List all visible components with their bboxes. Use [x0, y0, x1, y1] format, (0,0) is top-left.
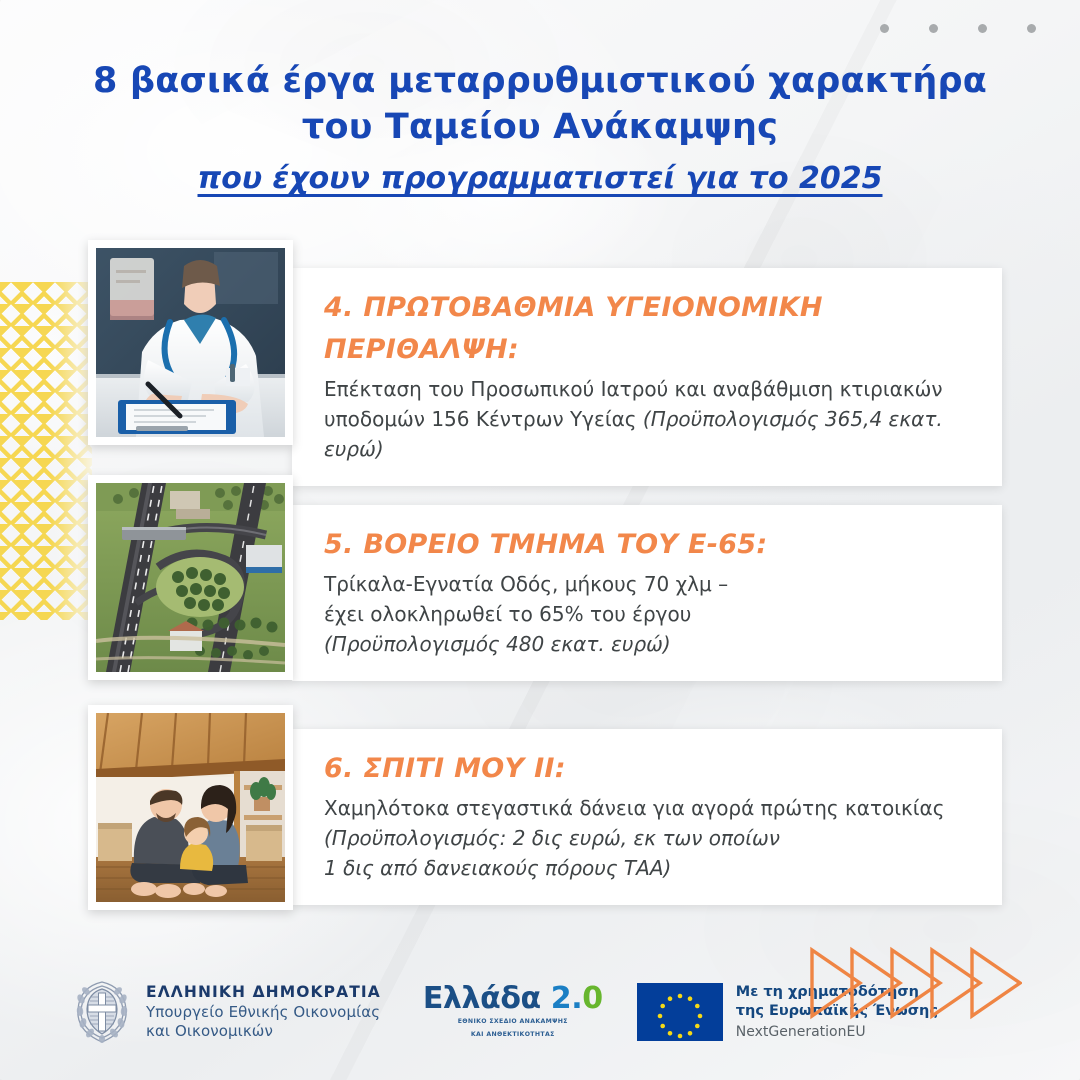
item-body-4-line2: υποδομών 156 Κέντρων Υγείας (Προϋπολογισ… — [324, 404, 972, 464]
greece-2-0-sub-line-1: ΕΘΝΙΚΟ ΣΧΕΔΙΟ ΑΝΑΚΑΜΨΗΣ — [423, 1018, 603, 1027]
item-body-6-line1: Χαμηλότοκα στεγαστικά δάνεια για αγορά π… — [324, 793, 972, 823]
aerial-highway-interchange-icon — [96, 483, 285, 672]
gov-line-3: και Οικονομικών — [146, 1022, 381, 1041]
item-body-4-line1: Επέκταση του Προσωπικού Ιατρού και αναβά… — [324, 374, 972, 404]
item-photo-6 — [88, 705, 293, 910]
family-in-new-home-icon — [96, 713, 285, 902]
decoration-dot — [1027, 24, 1036, 33]
gov-line-2: Υπουργείο Εθνικής Οικονομίας — [146, 1003, 381, 1022]
item-body-6-line3: 1 δις από δανειακούς πόρους ΤΑΑ) — [324, 853, 972, 883]
eu-line-3: NextGenerationEU — [736, 1023, 938, 1041]
item-row-6: 6. ΣΠΙΤΙ ΜΟΥ ΙΙ: Χαμηλότοκα στεγαστικά δ… — [88, 705, 1002, 910]
greece-2-0-word: Ελλάδα — [423, 981, 541, 1016]
item-body-5-line1: Τρίκαλα-Εγνατία Οδός, μήκους 70 χλμ – — [324, 569, 972, 599]
title-line-1: 8 βασικά έργα μεταρρυθμιστικού χαρακτήρα — [0, 58, 1080, 104]
decoration-dot — [929, 24, 938, 33]
greek-coat-of-arms-icon — [72, 979, 132, 1045]
decoration-dot — [978, 24, 987, 33]
title-line-2: του Ταμείου Ανάκαμψης — [0, 104, 1080, 150]
decoration-dot — [880, 24, 889, 33]
doctor-writing-on-clipboard-icon — [96, 248, 285, 437]
infographic-canvas: 8 βασικά έργα μεταρρυθμιστικού χαρακτήρα… — [0, 0, 1080, 1080]
greece-2-0-dot: . — [571, 981, 582, 1016]
item-row-5: 5. ΒΟΡΕΙΟ ΤΜΗΜΑ ΤΟΥ Ε-65: Τρίκαλα-Εγνατί… — [88, 475, 1002, 681]
item-photo-4 — [88, 240, 293, 445]
greece-2-0-sub-line-2: ΚΑΙ ΑΝΘΕΚΤΙΚΟΤΗΤΑΣ — [423, 1031, 603, 1040]
government-logo-block: ΕΛΛΗΝΙΚΗ ΔΗΜΟΚΡΑΤΙΑ Υπουργείο Εθνικής Οι… — [72, 979, 381, 1045]
top-decoration-dots — [880, 24, 1036, 33]
footer: ΕΛΛΗΝΙΚΗ ΔΗΜΟΚΡΑΤΙΑ Υπουργείο Εθνικής Οι… — [0, 970, 1080, 1054]
item-card-5: 5. ΒΟΡΕΙΟ ΤΜΗΜΑ ΤΟΥ Ε-65: Τρίκαλα-Εγνατί… — [292, 505, 1002, 681]
european-union-flag-icon — [637, 983, 723, 1041]
item-card-4: 4. ΠΡΩΤΟΒΑΘΜΙΑ ΥΓΕΙΟΝΟΜΙΚΗ ΠΕΡΙΘΑΛΨΗ: Επ… — [292, 268, 1002, 486]
greece-2-0-wordmark: Ελλάδα 2.0 — [423, 984, 603, 1014]
arrow-chevrons-decoration — [810, 946, 1022, 1020]
item-body-6-line2: (Προϋπολογισμός: 2 δις ευρώ, εκ των οποί… — [324, 823, 972, 853]
item-heading-6: 6. ΣΠΙΤΙ ΜΟΥ ΙΙ: — [324, 751, 972, 787]
item-heading-5: 5. ΒΟΡΕΙΟ ΤΜΗΜΑ ΤΟΥ Ε-65: — [324, 527, 972, 563]
item-body-5-budget: (Προϋπολογισμός 480 εκατ. ευρώ) — [324, 629, 972, 659]
item-heading-4-line2: ΠΕΡΙΘΑΛΨΗ: — [324, 332, 972, 368]
item-body-5-line2: έχει ολοκληρωθεί το 65% του έργου — [324, 599, 972, 629]
item-body-4-plain: υποδομών 156 Κέντρων Υγείας — [324, 407, 643, 431]
title-subtitle: που έχουν προγραμματιστεί για το 2025 — [0, 159, 1080, 199]
page-title: 8 βασικά έργα μεταρρυθμιστικού χαρακτήρα… — [0, 58, 1080, 199]
item-heading-4-line1: 4. ΠΡΩΤΟΒΑΘΜΙΑ ΥΓΕΙΟΝΟΜΙΚΗ — [324, 290, 972, 326]
greece-2-0-logo: Ελλάδα 2.0 ΕΘΝΙΚΟ ΣΧΕΔΙΟ ΑΝΑΚΑΜΨΗΣ ΚΑΙ Α… — [423, 984, 603, 1040]
zigzag-fade-mask — [0, 282, 92, 620]
item-photo-5 — [88, 475, 293, 680]
item-row-4: 4. ΠΡΩΤΟΒΑΘΜΙΑ ΥΓΕΙΟΝΟΜΙΚΗ ΠΕΡΙΘΑΛΨΗ: Επ… — [88, 240, 1002, 486]
greece-2-0-two: 2 — [551, 981, 571, 1016]
item-card-6: 6. ΣΠΙΤΙ ΜΟΥ ΙΙ: Χαμηλότοκα στεγαστικά δ… — [292, 729, 1002, 905]
eu-stars-icon — [637, 983, 723, 1041]
gov-line-1: ΕΛΛΗΝΙΚΗ ΔΗΜΟΚΡΑΤΙΑ — [146, 983, 381, 1003]
greece-2-0-zero: 0 — [582, 981, 602, 1016]
